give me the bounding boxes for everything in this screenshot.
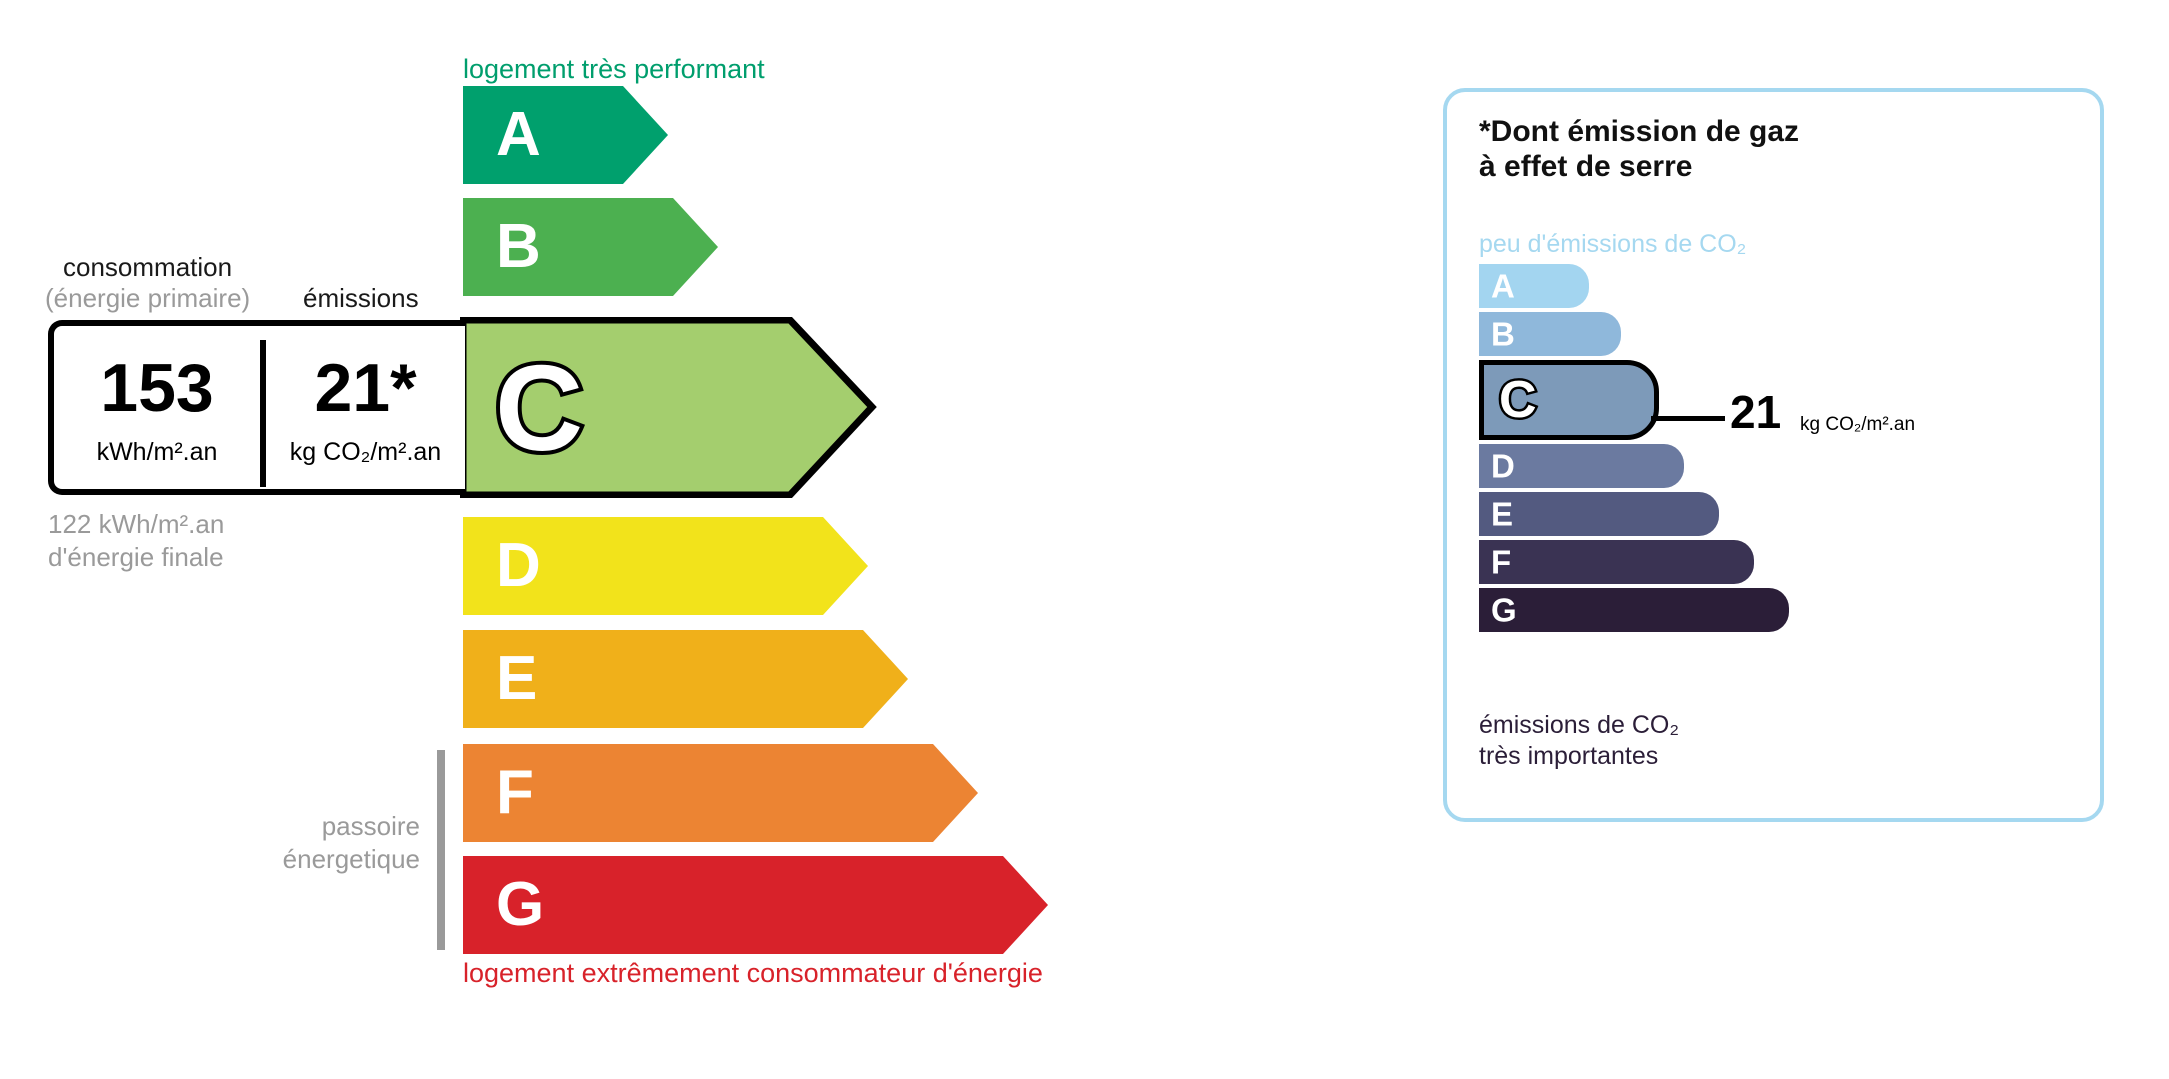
consumption-unit: kWh/m².an (54, 438, 260, 467)
co2-band-g[interactable]: G (1479, 588, 1789, 632)
band-a-shape (463, 86, 668, 184)
band-d-letter: D (496, 535, 541, 597)
energy-performance-chart: logement très performant A B C (0, 0, 1400, 1079)
co2-band-b-letter: B (1491, 318, 1515, 351)
co2-band-e-letter: E (1491, 498, 1513, 531)
energy-band-c[interactable]: C (460, 317, 880, 498)
co2-value: 21 (1730, 389, 1781, 435)
energy-band-f[interactable]: F (463, 744, 978, 842)
passoire-label: passoire énergetique (180, 810, 420, 875)
co2-leader-line (1651, 416, 1725, 421)
co2-band-f[interactable]: F (1479, 540, 1754, 584)
co2-band-a-letter: A (1491, 270, 1515, 303)
co2-band-c-letter: C (1499, 374, 1537, 426)
energy-band-d[interactable]: D (463, 517, 868, 615)
band-e-letter: E (496, 648, 537, 710)
band-f-letter: F (496, 762, 534, 824)
co2-high-emissions-label: émissions de CO₂ très importantes (1479, 710, 1679, 771)
co2-band-e[interactable]: E (1479, 492, 1719, 536)
co2-band-b[interactable]: B (1479, 312, 1621, 356)
emissions-header: émissions (303, 283, 419, 314)
co2-band-g-letter: G (1491, 594, 1517, 627)
consumption-value: 153 (54, 354, 260, 422)
co2-band-d-letter: D (1491, 450, 1515, 483)
band-f-shape (463, 744, 978, 842)
energy-band-a[interactable]: A (463, 86, 668, 184)
consumption-cell: 153 kWh/m².an (54, 326, 260, 489)
final-energy-note: 122 kWh/m².an d'énergie finale (48, 508, 224, 573)
co2-value-unit: kg CO₂/m².an (1800, 414, 1915, 436)
co2-band-a[interactable]: A (1479, 264, 1589, 308)
emissions-cell: 21* kg CO₂/m².an (266, 326, 465, 489)
energy-band-b[interactable]: B (463, 198, 718, 296)
band-a-letter: A (496, 104, 541, 166)
co2-panel-title: *Dont émission de gaz à effet de serre (1479, 114, 1799, 185)
dpe-screenshot: logement très performant A B C (0, 0, 2169, 1079)
co2-low-emissions-label: peu d'émissions de CO₂ (1479, 230, 1746, 259)
emissions-unit: kg CO₂/m².an (266, 438, 465, 467)
co2-band-c[interactable]: C (1479, 360, 1659, 440)
band-c-letter: C (495, 347, 583, 469)
energy-band-e[interactable]: E (463, 630, 908, 728)
co2-band-f-bar (1479, 540, 1754, 584)
passoire-marker-bar (437, 750, 445, 950)
band-b-letter: B (496, 216, 541, 278)
top-performance-label: logement très performant (463, 54, 765, 85)
value-box: 153 kWh/m².an 21* kg CO₂/m².an (48, 320, 465, 495)
co2-band-f-letter: F (1491, 546, 1511, 579)
co2-band-e-bar (1479, 492, 1719, 536)
bottom-performance-label: logement extrêmement consommateur d'éner… (463, 958, 1043, 989)
co2-panel: *Dont émission de gaz à effet de serre p… (1443, 88, 2104, 822)
band-g-letter: G (496, 874, 544, 936)
consumption-subheader: (énergie primaire) (45, 283, 250, 314)
consumption-header: consommation (63, 252, 232, 283)
band-g-shape (463, 856, 1048, 954)
co2-band-d[interactable]: D (1479, 444, 1684, 488)
energy-band-g[interactable]: G (463, 856, 1048, 954)
emissions-value: 21* (266, 354, 465, 422)
co2-band-g-bar (1479, 588, 1789, 632)
